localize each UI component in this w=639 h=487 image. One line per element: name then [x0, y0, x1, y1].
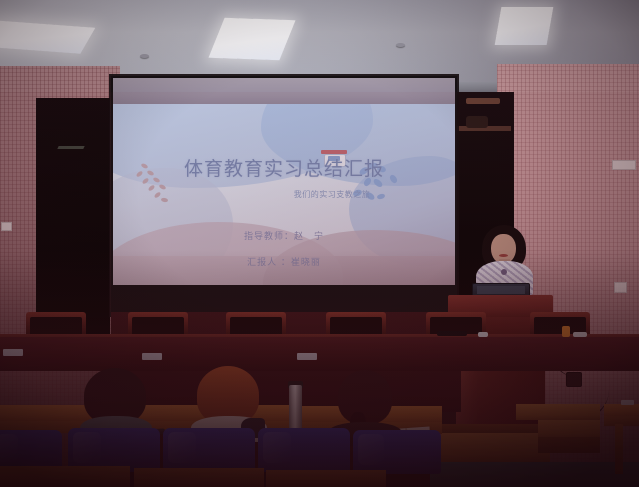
committee-nameplate: [3, 349, 23, 356]
lecture-seat[interactable]: [163, 428, 255, 472]
committee-nameplate: [142, 353, 162, 360]
projection-screen-top-border: [113, 78, 455, 106]
audience-right-hair: [338, 370, 392, 424]
wall-sign-plate: [612, 160, 636, 170]
stage-step-top: [516, 404, 600, 420]
ceiling-panel-light-right: [495, 7, 554, 45]
slide-title: 体育教育实习总结汇报: [113, 154, 455, 181]
audience-desk-front-right: [266, 470, 386, 487]
audience-desk-front-center: [134, 468, 264, 487]
presentation-slide: 体育教育实习总结汇报 我们的实习支教之旅 指导教师：赵 宁 汇报人 ：崔晓丽: [113, 104, 455, 285]
committee-nameplate: [297, 353, 317, 360]
slide-presenter-line: 汇报人 ：崔晓丽: [113, 255, 455, 268]
audience-desk-front-left: [0, 466, 130, 487]
niche-lamp: [466, 98, 500, 104]
presenter-lips: [499, 254, 508, 257]
side-desk-paper: [621, 400, 634, 405]
smoke-detector-left: [140, 54, 149, 58]
smoke-detector-right: [396, 43, 405, 47]
lecture-seat[interactable]: [353, 430, 441, 474]
table-item-white: [478, 332, 488, 337]
wall-niche-left: [36, 98, 110, 340]
lecture-seat[interactable]: [258, 428, 350, 472]
floor: [430, 462, 639, 487]
wall-light-switch[interactable]: [614, 282, 627, 293]
laptop-screen: [477, 286, 525, 294]
niche-left-light-glint: [57, 146, 84, 149]
lecture-hall-photo: 体育教育实习总结汇报 我们的实习支教之旅 指导教师：赵 宁 汇报人 ：崔晓丽: [0, 0, 639, 487]
presenter-necklace: [501, 269, 507, 275]
lecture-seat[interactable]: [0, 430, 62, 470]
slide-subtitle: 我们的实习支教之旅: [113, 189, 455, 200]
table-item-paper: [573, 332, 587, 337]
stage-step-riser: [538, 437, 600, 453]
table-item-cup: [562, 326, 570, 337]
table-item-device: [437, 331, 467, 336]
stage-platform-lower-edge: [430, 424, 550, 433]
niche-object: [466, 116, 488, 128]
committee-table: [0, 337, 639, 371]
thermos-flask: [289, 385, 302, 429]
side-desk-leg: [615, 424, 623, 474]
slide-advisor-line: 指导教师：赵 宁: [113, 229, 455, 242]
stage-platform-lower: [430, 432, 550, 464]
wall-plate-left: [1, 222, 12, 231]
